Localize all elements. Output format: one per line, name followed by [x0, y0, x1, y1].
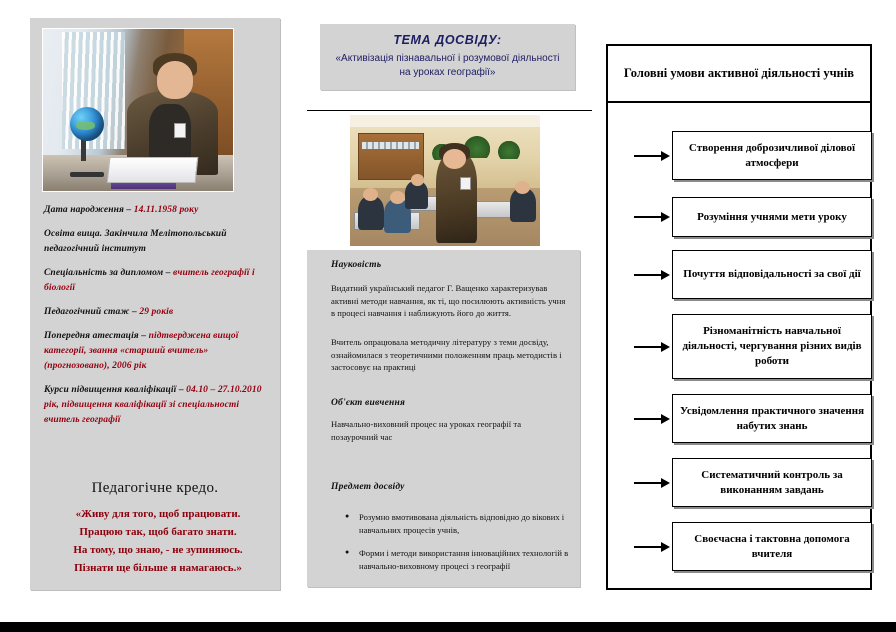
section-subject-heading: Предмет досвіду [331, 482, 405, 492]
credo-line: Працюю так, щоб багато знати. [44, 523, 272, 541]
plant-icon [498, 141, 520, 159]
list-item: Розумно вмотивована діяльність відповідн… [345, 511, 583, 536]
bio-item-courses: Курси підвищення кваліфікації – 04.10 – … [44, 383, 272, 428]
classroom-pupil-head [411, 174, 424, 186]
credo-title: Педагогічне кредо. [30, 480, 280, 497]
horizontal-divider [307, 110, 592, 111]
bio-value: 14.11.1958 року [134, 205, 199, 215]
flowchart-title: Головні умови активної діяльності учнів [618, 66, 860, 81]
condition-box-2[interactable]: Розуміння учнями мети уроку [672, 197, 872, 237]
bio-label: Освіта вища. Закінчила Мелітопольський п… [44, 229, 227, 254]
bio-label: Педагогічний стаж – [44, 307, 139, 317]
bio-label: Попередня атестація – [44, 331, 149, 341]
biography-list: Дата народження – 14.11.1958 року Освіта… [44, 203, 272, 437]
classroom-pupil-head [515, 181, 530, 194]
flowchart-row-5: Усвідомлення практичного значення набути… [634, 394, 872, 443]
middle-content-panel: Науковість Видатний український педагог … [307, 250, 580, 587]
credo-line: Пізнати ще більше я намагаюсь.» [44, 559, 272, 577]
arrow-right-icon [634, 269, 672, 281]
theme-heading: ТЕМА ДОСВІДУ: [320, 33, 575, 47]
photo-globe-base [70, 172, 104, 177]
arrow-right-icon [634, 477, 672, 489]
left-profile-panel: Дата народження – 14.11.1958 року Освіта… [30, 18, 280, 590]
bottom-black-bar [0, 622, 896, 632]
photo-teacher-head [157, 61, 193, 98]
classroom-lesson-photo [349, 114, 541, 247]
condition-box-7[interactable]: Своєчасна і тактовна допомога вчителя [672, 522, 872, 571]
credo-line: «Живу для того, щоб працювати. [44, 505, 272, 523]
condition-box-5[interactable]: Усвідомлення практичного значення набути… [672, 394, 872, 443]
condition-box-1[interactable]: Створення доброзичливої ділової атмосфер… [672, 131, 872, 180]
flowchart-row-1: Створення доброзичливої ділової атмосфер… [634, 131, 872, 180]
credo-text: «Живу для того, щоб працювати. Працюю та… [44, 505, 272, 577]
arrow-right-icon [634, 413, 672, 425]
classroom-teacher-head [443, 149, 466, 169]
flowchart-row-4: Різноманітність навчальної діяльності, ч… [634, 314, 872, 379]
condition-box-3[interactable]: Почуття відповідальності за свої дії [672, 250, 872, 299]
flowchart-row-7: Своєчасна і тактовна допомога вчителя [634, 522, 872, 571]
section-object-paragraph: Навчально-виховний процес на уроках геог… [331, 418, 569, 443]
bio-label: Спеціальність за дипломом – [44, 268, 173, 278]
arrow-right-icon [634, 211, 672, 223]
classroom-pupil [358, 196, 385, 230]
section-science-paragraph-1: Видатний український педагог Г. Ващенко … [331, 282, 569, 320]
credo-line: На тому, що знаю, - не зупиняюсь. [44, 541, 272, 559]
flowchart-row-3: Почуття відповідальності за свої дії [634, 250, 872, 299]
theme-subtitle: «Активізація пізнавальної і розумової ді… [330, 52, 565, 80]
arrow-right-icon [634, 341, 672, 353]
section-science-heading: Науковість [331, 260, 381, 270]
teacher-portrait-photo [42, 28, 234, 192]
section-object-heading: Об'єкт вивчення [331, 398, 405, 408]
list-item: Форми і методи використання інноваційних… [345, 547, 583, 572]
bio-value: 29 років [139, 307, 173, 317]
flowchart-row-2: Розуміння учнями мети уроку [634, 197, 872, 237]
classroom-teacher-badge [460, 177, 471, 190]
bio-item-speciality: Спеціальність за дипломом – вчитель геог… [44, 266, 272, 296]
subject-bullet-list: Розумно вмотивована діяльність відповідн… [331, 511, 583, 583]
bio-item-experience: Педагогічний стаж – 29 років [44, 305, 272, 320]
bio-item-attestation: Попередня атестація – підтверджена вищої… [44, 329, 272, 374]
arrow-right-icon [634, 150, 672, 162]
classroom-bookshelf [358, 133, 425, 180]
flowchart-title-box: Головні умови активної діяльності учнів [606, 44, 872, 103]
classroom-pupil-head [390, 191, 405, 204]
theme-title-box: ТЕМА ДОСВІДУ: «Активізація пізнавальної … [320, 24, 575, 90]
arrow-right-icon [634, 541, 672, 553]
globe-icon [70, 107, 104, 141]
photo-teacher-badge [174, 123, 186, 138]
photo-open-book [106, 157, 198, 183]
bio-label: Курси підвищення кваліфікації – [44, 385, 186, 395]
conditions-flowchart-frame: Головні умови активної діяльності учнів … [606, 44, 872, 590]
bio-label: Дата народження – [44, 205, 134, 215]
section-science-paragraph-2: Вчитель опрацювала методичну літературу … [331, 336, 569, 374]
bio-item-birthdate: Дата народження – 14.11.1958 року [44, 203, 272, 218]
flowchart-row-6: Систематичний контроль за виконанням зав… [634, 458, 872, 507]
bio-item-education: Освіта вища. Закінчила Мелітопольський п… [44, 227, 272, 257]
condition-box-4[interactable]: Різноманітність навчальної діяльності, ч… [672, 314, 872, 379]
photo-globe-stand [81, 139, 86, 161]
classroom-ceiling [350, 115, 540, 127]
condition-box-6[interactable]: Систематичний контроль за виконанням зав… [672, 458, 872, 507]
